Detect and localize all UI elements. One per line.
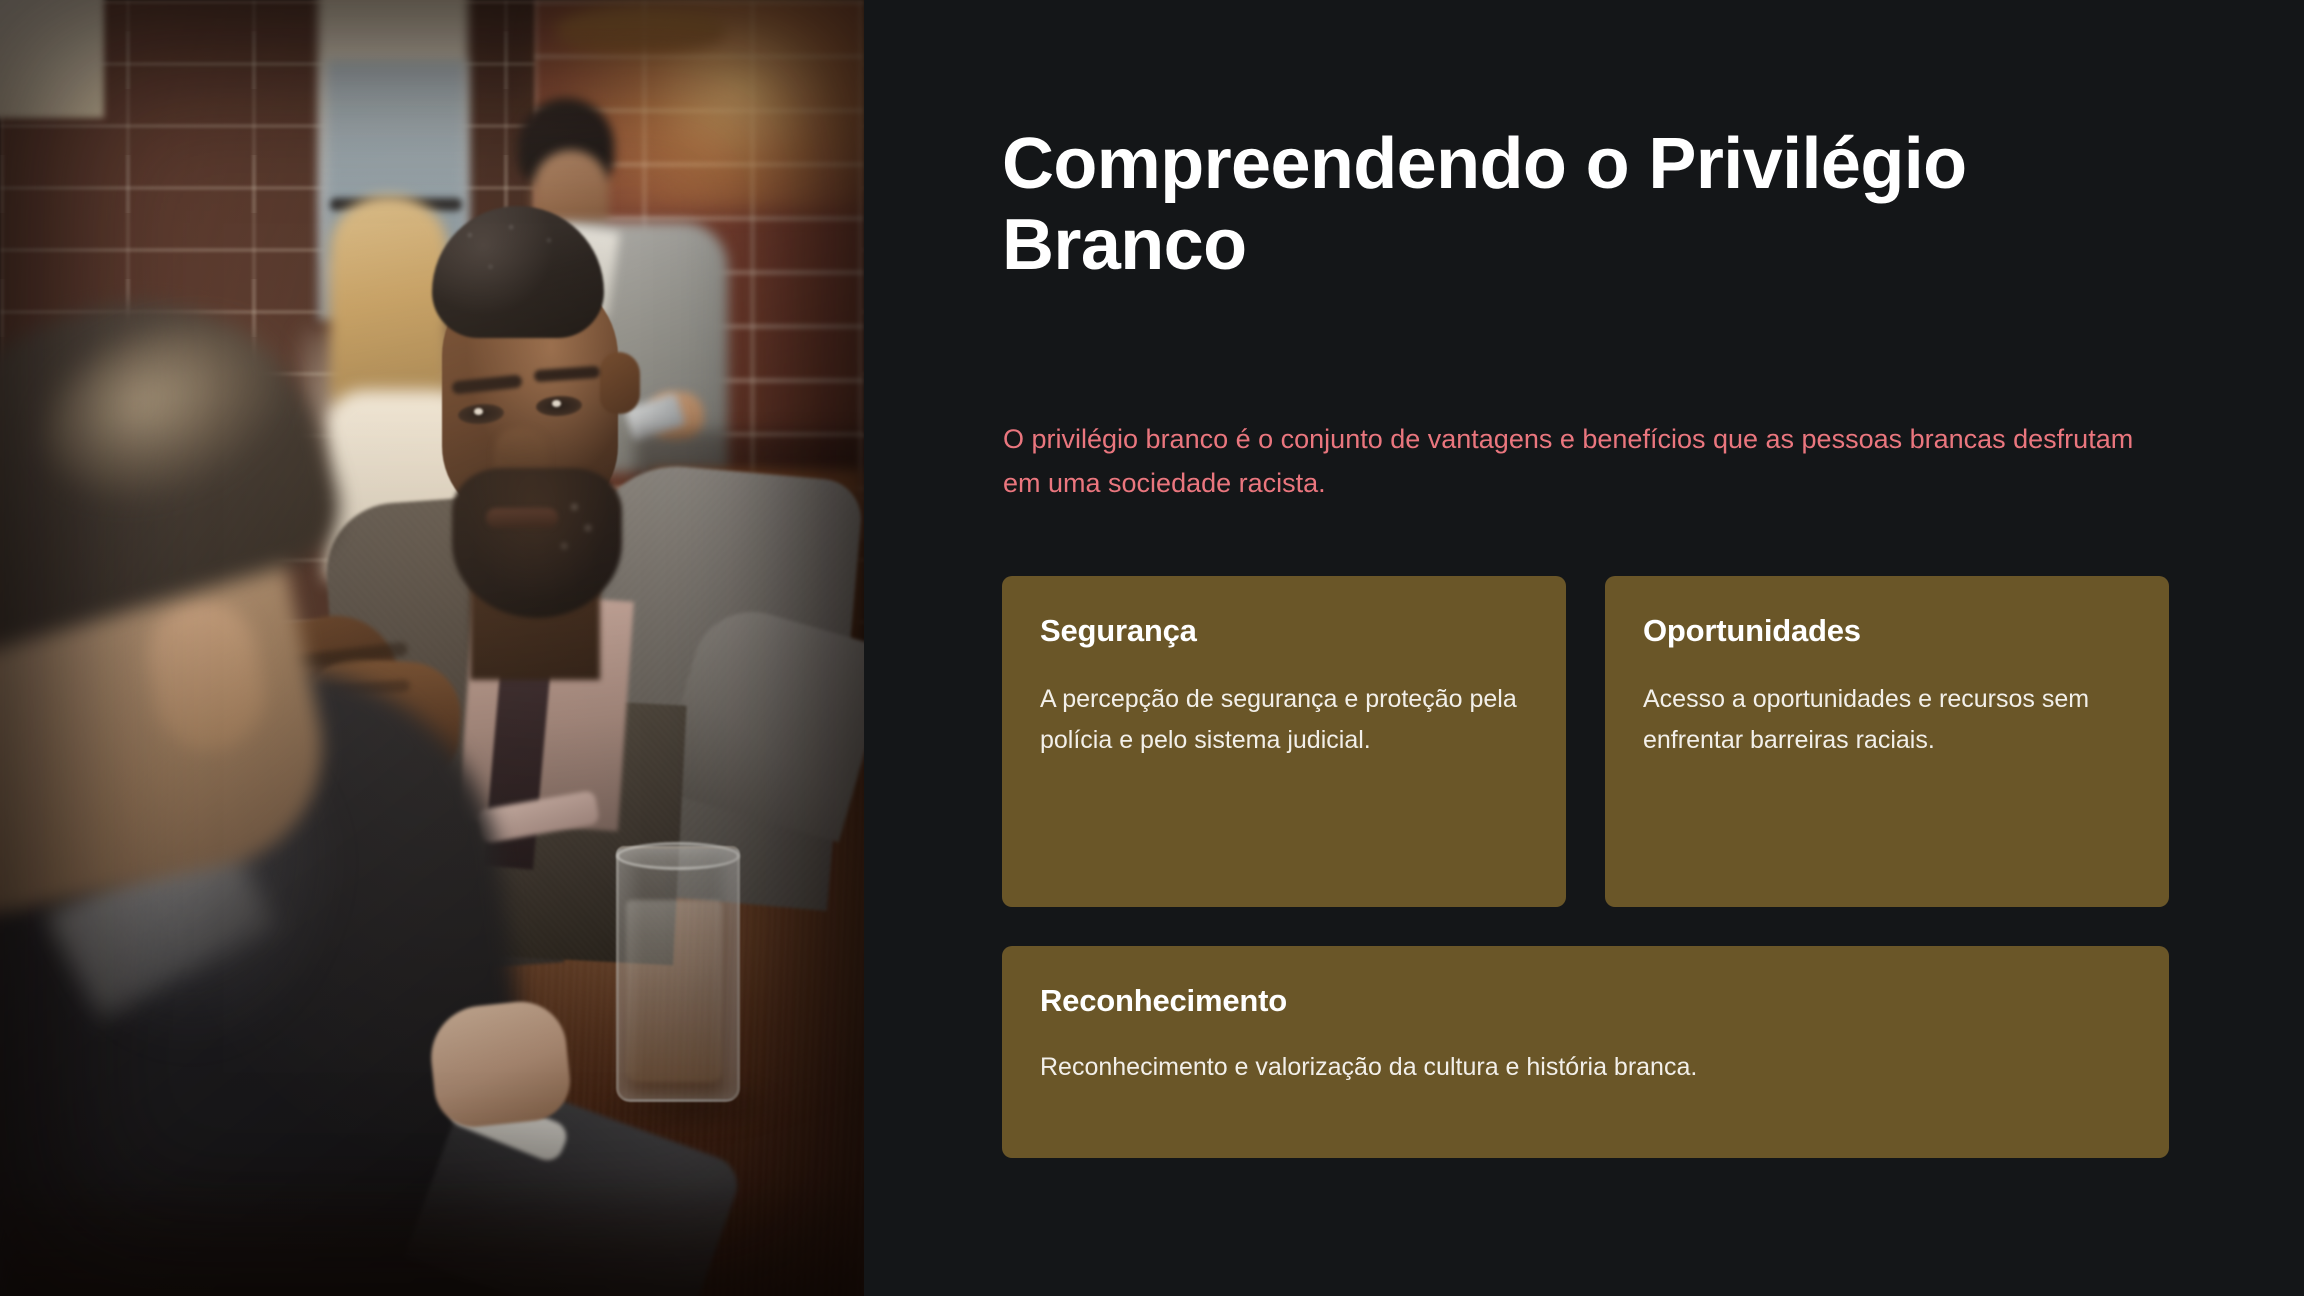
seated-man-lips <box>486 508 558 528</box>
wall-lamp-shade <box>556 6 726 52</box>
card-title: Reconhecimento <box>1040 982 2131 1019</box>
card-seguranca[interactable]: Segurança A percepção de segurança e pro… <box>1002 576 1566 907</box>
hero-photo <box>0 0 864 1296</box>
seated-man-eye-highlight-right <box>552 400 561 407</box>
seated-man-eye-highlight-left <box>474 408 483 415</box>
card-title: Oportunidades <box>1643 612 2131 649</box>
concept-cards: Segurança A percepção de segurança e pro… <box>1002 576 2169 1158</box>
card-row-top: Segurança A percepção de segurança e pro… <box>1002 576 2169 907</box>
card-title: Segurança <box>1040 612 1528 649</box>
card-oportunidades[interactable]: Oportunidades Acesso a oportunidades e r… <box>1605 576 2169 907</box>
window-upper-left <box>0 0 104 118</box>
seated-man-beard <box>452 468 622 618</box>
table-foreground-shadow <box>0 1190 864 1296</box>
card-row-bottom: Reconhecimento Reconhecimento e valoriza… <box>1002 946 2169 1158</box>
content-panel: Compreendendo o Privilégio Branco O priv… <box>864 0 2304 1296</box>
glass-water-level <box>626 900 722 1082</box>
glass-rim <box>616 842 740 870</box>
slide-root: Compreendendo o Privilégio Branco O priv… <box>0 0 2304 1296</box>
card-body: Reconhecimento e valorização da cultura … <box>1040 1047 2131 1088</box>
page-title: Compreendendo o Privilégio Branco <box>1002 124 2002 285</box>
content-inner: Compreendendo o Privilégio Branco O priv… <box>1002 0 2169 1296</box>
seated-man-ear <box>600 352 640 414</box>
card-body: A percepção de segurança e proteção pela… <box>1040 679 1528 760</box>
photo-composite <box>0 0 864 1296</box>
card-body: Acesso a oportunidades e recursos sem en… <box>1643 679 2131 760</box>
page-subtitle: O privilégio branco é o conjunto de vant… <box>1003 418 2167 505</box>
card-reconhecimento[interactable]: Reconhecimento Reconhecimento e valoriza… <box>1002 946 2169 1158</box>
